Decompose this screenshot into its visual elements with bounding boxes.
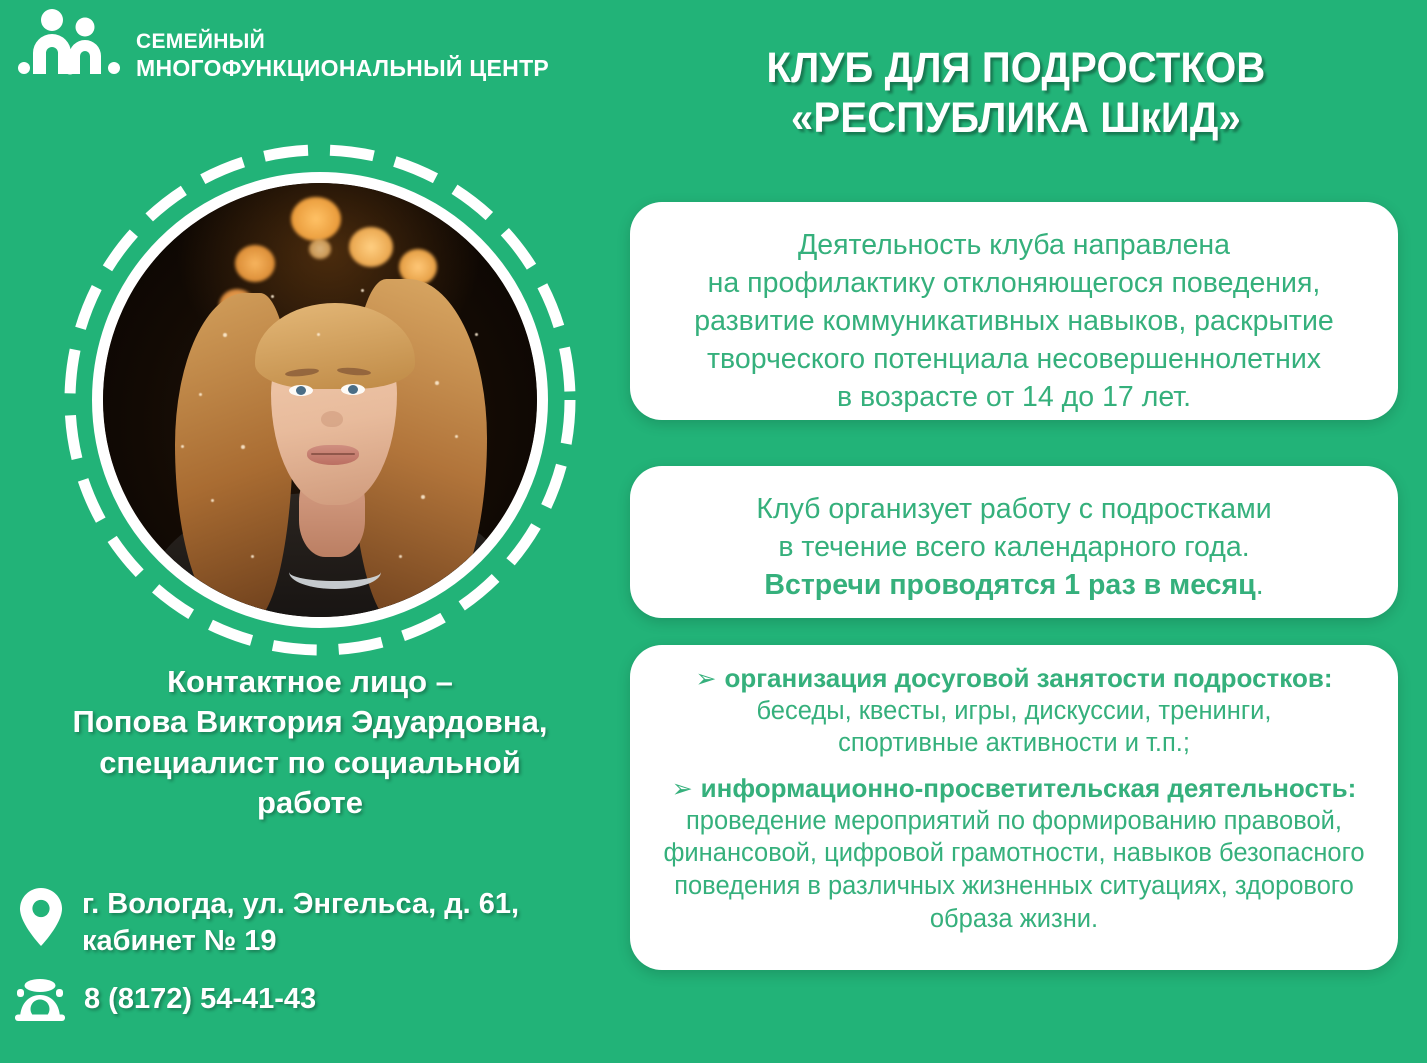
activity-body-2-line-3: поведения в различных жизненных ситуация… — [652, 870, 1376, 903]
about-line-5: в возрасте от 14 до 17 лет. — [656, 378, 1372, 416]
activity-body-2-line-4: образа жизни. — [652, 903, 1376, 936]
contact-person-block: Контактное лицо – Попова Виктория Эдуард… — [10, 662, 610, 823]
organization-logo: СЕМЕЙНЫЙ МНОГОФУНКЦИОНАЛЬНЫЙ ЦЕНТР — [18, 8, 549, 82]
contact-person-line-3: специалист по социальной — [10, 743, 610, 783]
schedule-highlight: Встречи проводятся 1 раз в месяц. — [656, 566, 1372, 604]
about-card: Деятельность клуба направлена на профила… — [630, 202, 1398, 420]
activity-group-1: ➢организация досуговой занятости подрост… — [652, 663, 1376, 760]
logo-line-2: МНОГОФУНКЦИОНАЛЬНЫЙ ЦЕНТР — [136, 55, 549, 82]
address-line-2: кабинет № 19 — [82, 923, 519, 960]
about-line-4: творческого потенциала несовершеннолетни… — [656, 340, 1372, 378]
activity-body-2-line-2: финансовой, цифровой грамотности, навыко… — [652, 837, 1376, 870]
telephone-icon — [14, 978, 66, 1022]
contact-person-line-2: Попова Виктория Эдуардовна, — [10, 702, 610, 742]
schedule-line-2: в течение всего календарного года. — [656, 528, 1372, 566]
logo-line-1: СЕМЕЙНЫЙ — [136, 30, 549, 55]
portrait-photo-block — [60, 140, 580, 660]
activity-heading-1: ➢организация досуговой занятости подрост… — [652, 663, 1376, 695]
arrow-bullet-icon: ➢ — [672, 775, 693, 803]
schedule-highlight-tail: . — [1256, 569, 1264, 601]
about-line-1: Деятельность клуба направлена — [656, 226, 1372, 264]
phone-number: 8 (8172) 54-41-43 — [84, 981, 316, 1018]
portrait-image — [103, 183, 537, 617]
activity-heading-2: ➢информационно-просветительская деятельн… — [652, 773, 1376, 805]
title-line-1: КЛУБ ДЛЯ ПОДРОСТКОВ — [663, 44, 1370, 94]
about-line-3: развитие коммуникативных навыков, раскры… — [656, 302, 1372, 340]
activity-body-1-line-2: спортивные активности и т.п.; — [652, 727, 1376, 760]
about-line-2: на профилактику отклоняющегося поведения… — [656, 264, 1372, 302]
activities-card: ➢организация досуговой занятости подрост… — [630, 645, 1398, 970]
address-block: г. Вологда, ул. Энгельса, д. 61, кабинет… — [18, 886, 519, 960]
activity-heading-2-text: информационно-просветительская деятельно… — [701, 773, 1357, 803]
page-title: КЛУБ ДЛЯ ПОДРОСТКОВ «РЕСПУБЛИКА ШкИД» — [663, 44, 1370, 144]
schedule-highlight-text: Встречи проводятся 1 раз в месяц — [764, 569, 1255, 601]
phone-block: 8 (8172) 54-41-43 — [14, 978, 316, 1022]
schedule-line-1: Клуб организует работу с подростками — [656, 490, 1372, 528]
address-line-1: г. Вологда, ул. Энгельса, д. 61, — [82, 886, 519, 923]
activity-body-2-line-1: проведение мероприятий по формированию п… — [652, 805, 1376, 838]
title-line-2: «РЕСПУБЛИКА ШкИД» — [663, 94, 1370, 144]
map-pin-icon — [18, 886, 64, 948]
poster-root: СЕМЕЙНЫЙ МНОГОФУНКЦИОНАЛЬНЫЙ ЦЕНТР КЛУБ … — [0, 0, 1427, 1063]
activity-group-2: ➢информационно-просветительская деятельн… — [652, 773, 1376, 935]
avatar — [92, 172, 548, 628]
logo-text-block: СЕМЕЙНЫЙ МНОГОФУНКЦИОНАЛЬНЫЙ ЦЕНТР — [136, 8, 549, 82]
address-text: г. Вологда, ул. Энгельса, д. 61, кабинет… — [82, 886, 519, 960]
activity-body-1-line-1: беседы, квесты, игры, дискуссии, тренинг… — [652, 695, 1376, 728]
activity-heading-1-text: организация досуговой занятости подростк… — [724, 663, 1332, 693]
arrow-bullet-icon: ➢ — [696, 665, 717, 693]
contact-person-line-4: работе — [10, 783, 610, 823]
family-people-icon — [18, 8, 122, 82]
schedule-card: Клуб организует работу с подростками в т… — [630, 466, 1398, 618]
contact-person-line-1: Контактное лицо – — [10, 662, 610, 702]
